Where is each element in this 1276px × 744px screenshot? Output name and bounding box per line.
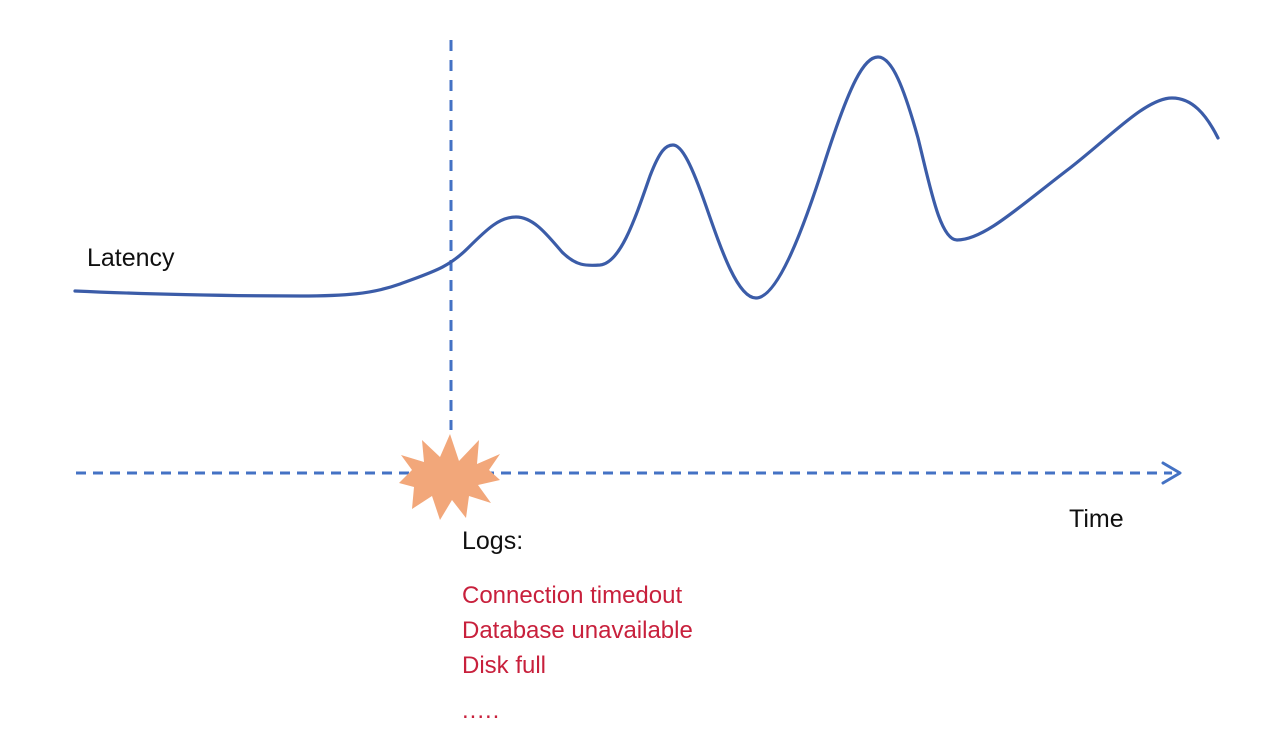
log-entries-continuation: ..... [462,683,882,728]
logs-list: Connection timedout Database unavailable… [462,578,882,728]
diagram-canvas: Latency Time Logs: Connection timedout D… [0,0,1276,744]
time-axis-label: Time [1069,507,1124,532]
log-entry: Database unavailable [462,613,882,648]
latency-axis-label: Latency [87,246,175,271]
log-entry: Disk full [462,648,882,683]
log-entry: Connection timedout [462,578,882,613]
latency-curve [75,57,1218,298]
logs-panel-title: Logs: [462,529,523,554]
time-axis-group [76,463,1180,483]
explosion-starburst-icon [399,434,500,520]
